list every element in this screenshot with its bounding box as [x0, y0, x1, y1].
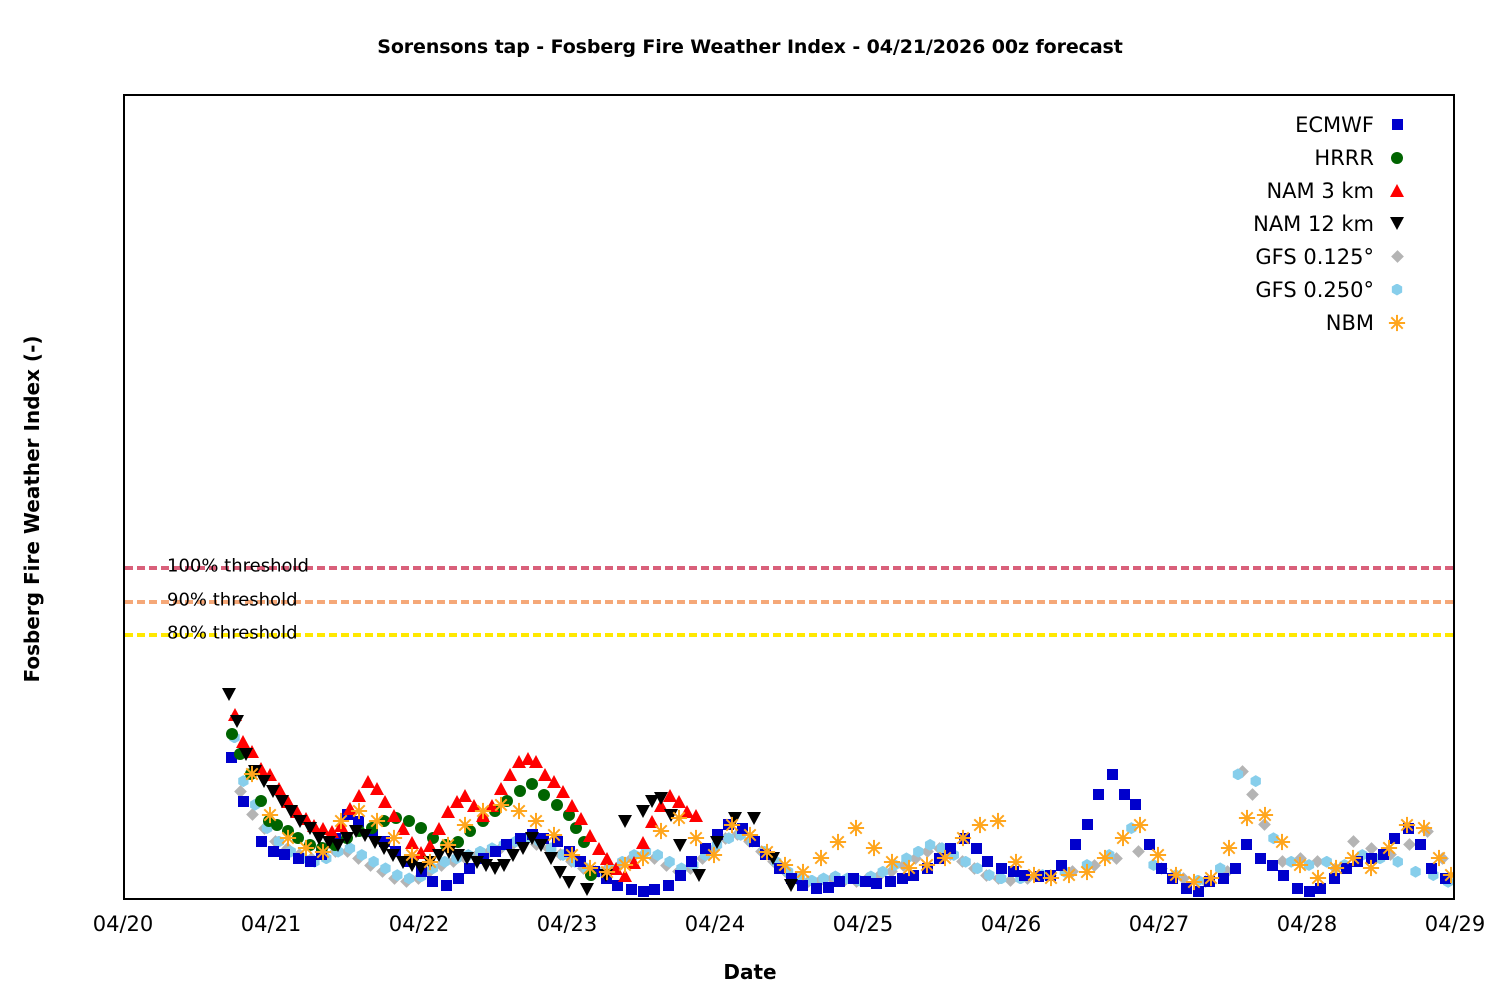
legend-label: NAM 3 km — [1266, 179, 1374, 203]
data-point — [1238, 809, 1256, 827]
data-point — [439, 836, 457, 854]
data-point — [1309, 869, 1327, 887]
chart-page: Sorensons tap - Fosberg Fire Weather Ind… — [0, 0, 1500, 1000]
data-point — [758, 843, 776, 861]
legend-label: HRRR — [1314, 146, 1374, 170]
legend-item-gfs-0-125[interactable]: GFS 0.125° — [1130, 240, 1420, 273]
star-icon — [1374, 314, 1420, 332]
data-point — [1362, 859, 1380, 877]
data-point — [1202, 869, 1220, 887]
data-point — [687, 829, 705, 847]
data-point — [1273, 833, 1291, 851]
data-point — [1398, 816, 1416, 834]
data-point — [1167, 866, 1185, 884]
data-point — [847, 819, 865, 837]
data-point — [989, 812, 1007, 830]
data-point — [279, 829, 297, 847]
data-point — [1096, 849, 1114, 867]
legend-item-nam-3-km[interactable]: NAM 3 km — [1130, 174, 1420, 207]
data-point — [456, 816, 474, 834]
x-tick-label: 04/29 — [1425, 912, 1486, 936]
data-point — [243, 765, 261, 783]
data-point — [297, 839, 315, 857]
data-point — [350, 802, 368, 820]
data-point — [314, 843, 332, 861]
data-point — [670, 809, 688, 827]
hex-icon — [1374, 284, 1420, 296]
legend: ECMWFHRRRNAM 3 kmNAM 12 kmGFS 0.125°GFS … — [1130, 108, 1420, 339]
data-point — [1007, 853, 1025, 871]
data-point — [865, 839, 883, 857]
data-point — [1025, 866, 1043, 884]
x-tick-label: 04/27 — [1129, 912, 1190, 936]
data-point — [723, 816, 741, 834]
data-point — [527, 812, 545, 830]
data-point — [936, 849, 954, 867]
diamond-icon — [1374, 252, 1420, 261]
x-tick-label: 04/21 — [241, 912, 302, 936]
x-tick-label: 04/22 — [389, 912, 450, 936]
data-point — [971, 816, 989, 834]
data-point — [954, 829, 972, 847]
data-point — [385, 829, 403, 847]
data-point — [1430, 849, 1448, 867]
data-point — [1149, 846, 1167, 864]
page-title: Sorensons tap - Fosberg Fire Weather Ind… — [0, 36, 1500, 58]
data-point — [1042, 869, 1060, 887]
data-point — [634, 849, 652, 867]
data-point — [1131, 816, 1149, 834]
data-point — [598, 863, 616, 881]
legend-label: NBM — [1326, 311, 1374, 335]
data-point — [368, 812, 386, 830]
data-point — [883, 853, 901, 871]
data-point — [545, 826, 563, 844]
x-tick-label: 04/25 — [833, 912, 894, 936]
circle-icon — [1374, 152, 1420, 164]
data-point — [581, 859, 599, 877]
data-point — [1442, 866, 1453, 884]
data-point — [616, 856, 634, 874]
legend-label: GFS 0.125° — [1255, 245, 1374, 269]
legend-item-gfs-0-250[interactable]: GFS 0.250° — [1130, 273, 1420, 306]
data-point — [812, 849, 830, 867]
data-point — [510, 802, 528, 820]
x-tick-label: 04/26 — [981, 912, 1042, 936]
data-point — [563, 846, 581, 864]
square-icon — [1374, 119, 1420, 130]
y-axis-label: Fosberg Fire Weather Index (-) — [20, 109, 44, 909]
legend-item-nam-12-km[interactable]: NAM 12 km — [1130, 207, 1420, 240]
data-point — [474, 802, 492, 820]
legend-item-hrrr[interactable]: HRRR — [1130, 141, 1420, 174]
legend-label: ECMWF — [1295, 113, 1374, 137]
data-point — [776, 856, 794, 874]
legend-item-ecmwf[interactable]: ECMWF — [1130, 108, 1420, 141]
data-point — [652, 822, 670, 840]
data-point — [741, 826, 759, 844]
data-point — [1114, 829, 1132, 847]
data-point — [705, 846, 723, 864]
data-point — [1060, 866, 1078, 884]
data-point — [1078, 863, 1096, 881]
data-point — [918, 856, 936, 874]
data-point — [1344, 849, 1362, 867]
data-point — [1256, 806, 1274, 824]
data-point — [1380, 839, 1398, 857]
data-point — [1220, 839, 1238, 857]
data-point — [829, 833, 847, 851]
data-point — [1327, 859, 1345, 877]
x-tick-label: 04/28 — [1277, 912, 1338, 936]
legend-label: GFS 0.250° — [1255, 278, 1374, 302]
data-point — [332, 812, 350, 830]
x-tick-label: 04/24 — [685, 912, 746, 936]
data-point — [421, 853, 439, 871]
tri-down-icon — [1374, 217, 1420, 230]
data-point — [794, 863, 812, 881]
data-point — [403, 846, 421, 864]
data-point — [1291, 856, 1309, 874]
x-axis-label: Date — [0, 960, 1500, 984]
data-point — [900, 859, 918, 877]
legend-label: NAM 12 km — [1253, 212, 1374, 236]
data-point — [261, 806, 279, 824]
x-tick-label: 04/20 — [93, 912, 154, 936]
x-tick-label: 04/23 — [537, 912, 598, 936]
data-point — [1415, 819, 1433, 837]
legend-item-nbm[interactable]: NBM — [1130, 306, 1420, 339]
data-point — [1185, 873, 1203, 891]
tri-up-icon — [1374, 184, 1420, 197]
data-point — [492, 796, 510, 814]
